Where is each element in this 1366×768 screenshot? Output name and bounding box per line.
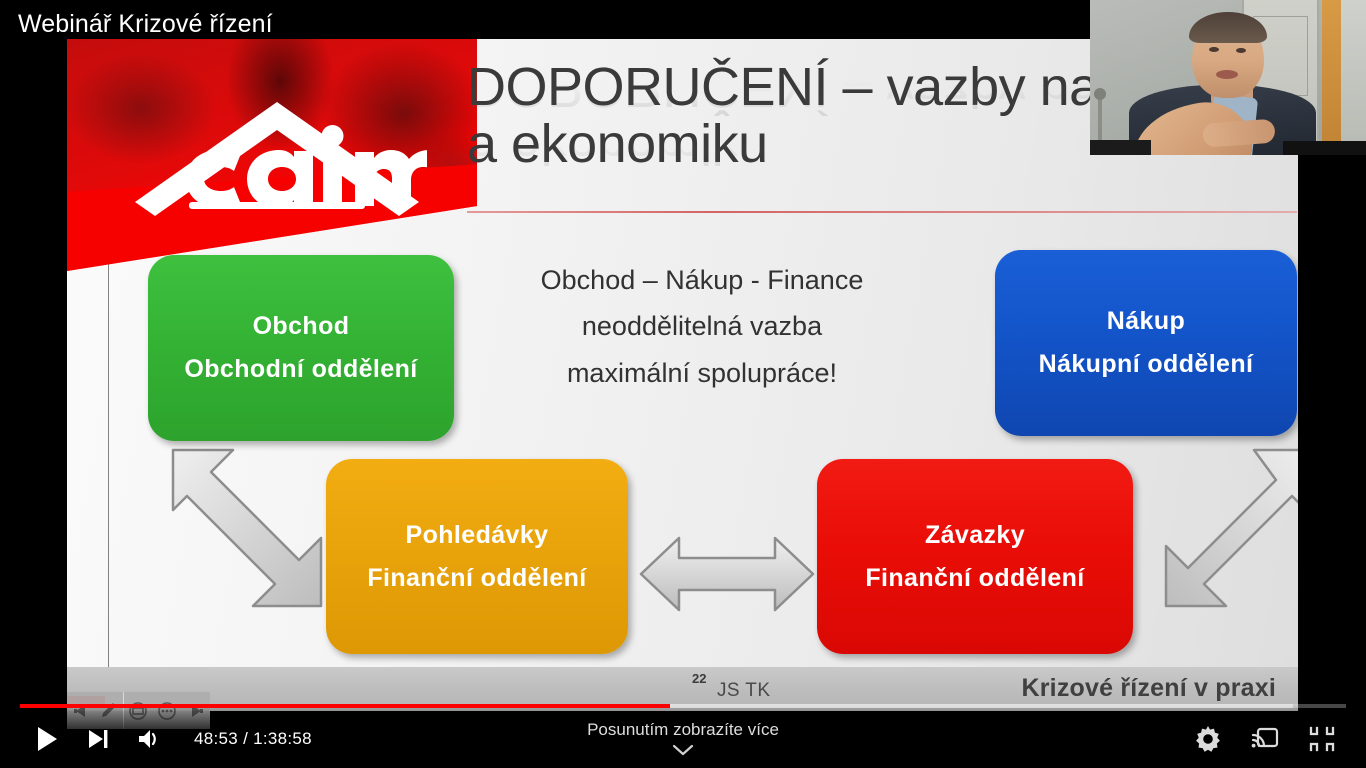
center-message: Obchod – Nákup - Finance neoddělitelná v… (522, 257, 882, 396)
play-button[interactable] (34, 725, 60, 753)
slide-page-number: 22 (692, 671, 706, 686)
node-pohledavky-title: Pohledávky (406, 521, 549, 550)
progress-bar[interactable] (20, 704, 1346, 708)
webcam-corner-shadow-left (1090, 140, 1151, 156)
center-message-line-1: Obchod – Nákup - Finance (522, 257, 882, 303)
video-player[interactable]: DOPORUČENÍ – vazby na a ekonomiku Obchod… (0, 0, 1366, 768)
webcam-right-wall (1341, 0, 1366, 155)
slide-title-underline (467, 211, 1297, 213)
node-zavazky-title: Závazky (925, 521, 1025, 550)
video-title: Webinář Krizové řízení (18, 10, 273, 39)
collapse-button[interactable] (1308, 725, 1336, 753)
webcam-person-mouth (1216, 70, 1238, 79)
center-message-line-3: maximální spolupráce! (522, 350, 882, 396)
cast-button[interactable] (1250, 726, 1280, 752)
node-nakup-subtitle: Nákupní oddělení (1039, 350, 1254, 379)
settings-button[interactable] (1194, 725, 1222, 753)
player-controls[interactable]: 48:53 / 1:38:58 (0, 704, 1366, 768)
slide-footer-initials: JS TK (717, 680, 770, 702)
node-zavazky: Závazky Finanční oddělení (817, 459, 1133, 654)
controls-row: 48:53 / 1:38:58 (0, 710, 1366, 768)
controls-left-group: 48:53 / 1:38:58 (0, 725, 312, 753)
webcam-person-eye-left (1209, 47, 1219, 52)
progress-played (20, 704, 670, 708)
next-video-button[interactable] (86, 728, 110, 750)
node-nakup-title: Nákup (1107, 307, 1185, 336)
node-nakup: Nákup Nákupní oddělení (995, 250, 1297, 436)
webcam-overlay (1090, 0, 1366, 155)
node-obchod-title: Obchod (253, 312, 350, 341)
controls-right-group (1194, 725, 1366, 753)
node-zavazky-subtitle: Finanční oddělení (865, 564, 1084, 593)
time-display: 48:53 / 1:38:58 (194, 729, 312, 749)
volume-button[interactable] (136, 727, 162, 751)
webcam-door-frame (1322, 0, 1341, 155)
node-pohledavky-subtitle: Finanční oddělení (367, 564, 586, 593)
double-arrow-diagonal-left-icon (167, 444, 327, 614)
node-obchod-subtitle: Obchodní oddělení (184, 355, 417, 384)
slide-footer-label: Krizové řízení v praxi (1022, 674, 1277, 703)
webcam-corner-shadow-right (1283, 141, 1366, 155)
node-obchod: Obchod Obchodní oddělení (148, 255, 454, 441)
center-message-line-2: neoddělitelná vazba (522, 303, 882, 349)
node-pohledavky: Pohledávky Finanční oddělení (326, 459, 628, 654)
caim-logo (127, 94, 427, 229)
slide-vertical-rule (108, 252, 109, 710)
double-arrow-diagonal-right-icon (1160, 444, 1298, 614)
double-arrow-horizontal-icon (637, 534, 817, 614)
